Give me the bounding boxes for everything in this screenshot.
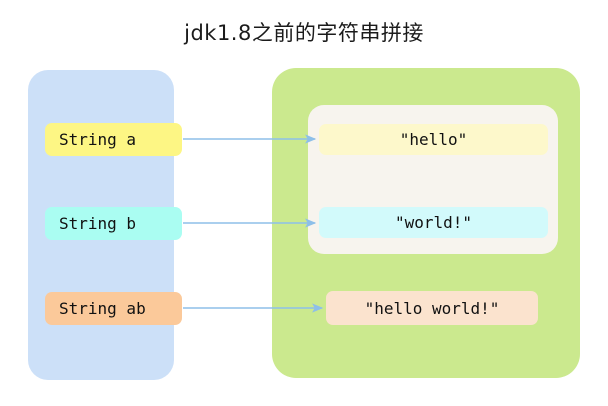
value-box-hello-world[interactable]: "hello world!" (326, 291, 538, 325)
variable-box-string-b[interactable]: String b (45, 207, 182, 240)
diagram-canvas: jdk1.8之前的字符串拼接 String a String b String … (0, 0, 608, 406)
variable-box-string-a[interactable]: String a (45, 123, 182, 156)
value-box-world[interactable]: "world!" (319, 207, 548, 238)
diagram-title: jdk1.8之前的字符串拼接 (0, 18, 608, 48)
value-box-hello[interactable]: "hello" (319, 124, 548, 155)
variable-box-string-ab[interactable]: String ab (45, 292, 182, 325)
